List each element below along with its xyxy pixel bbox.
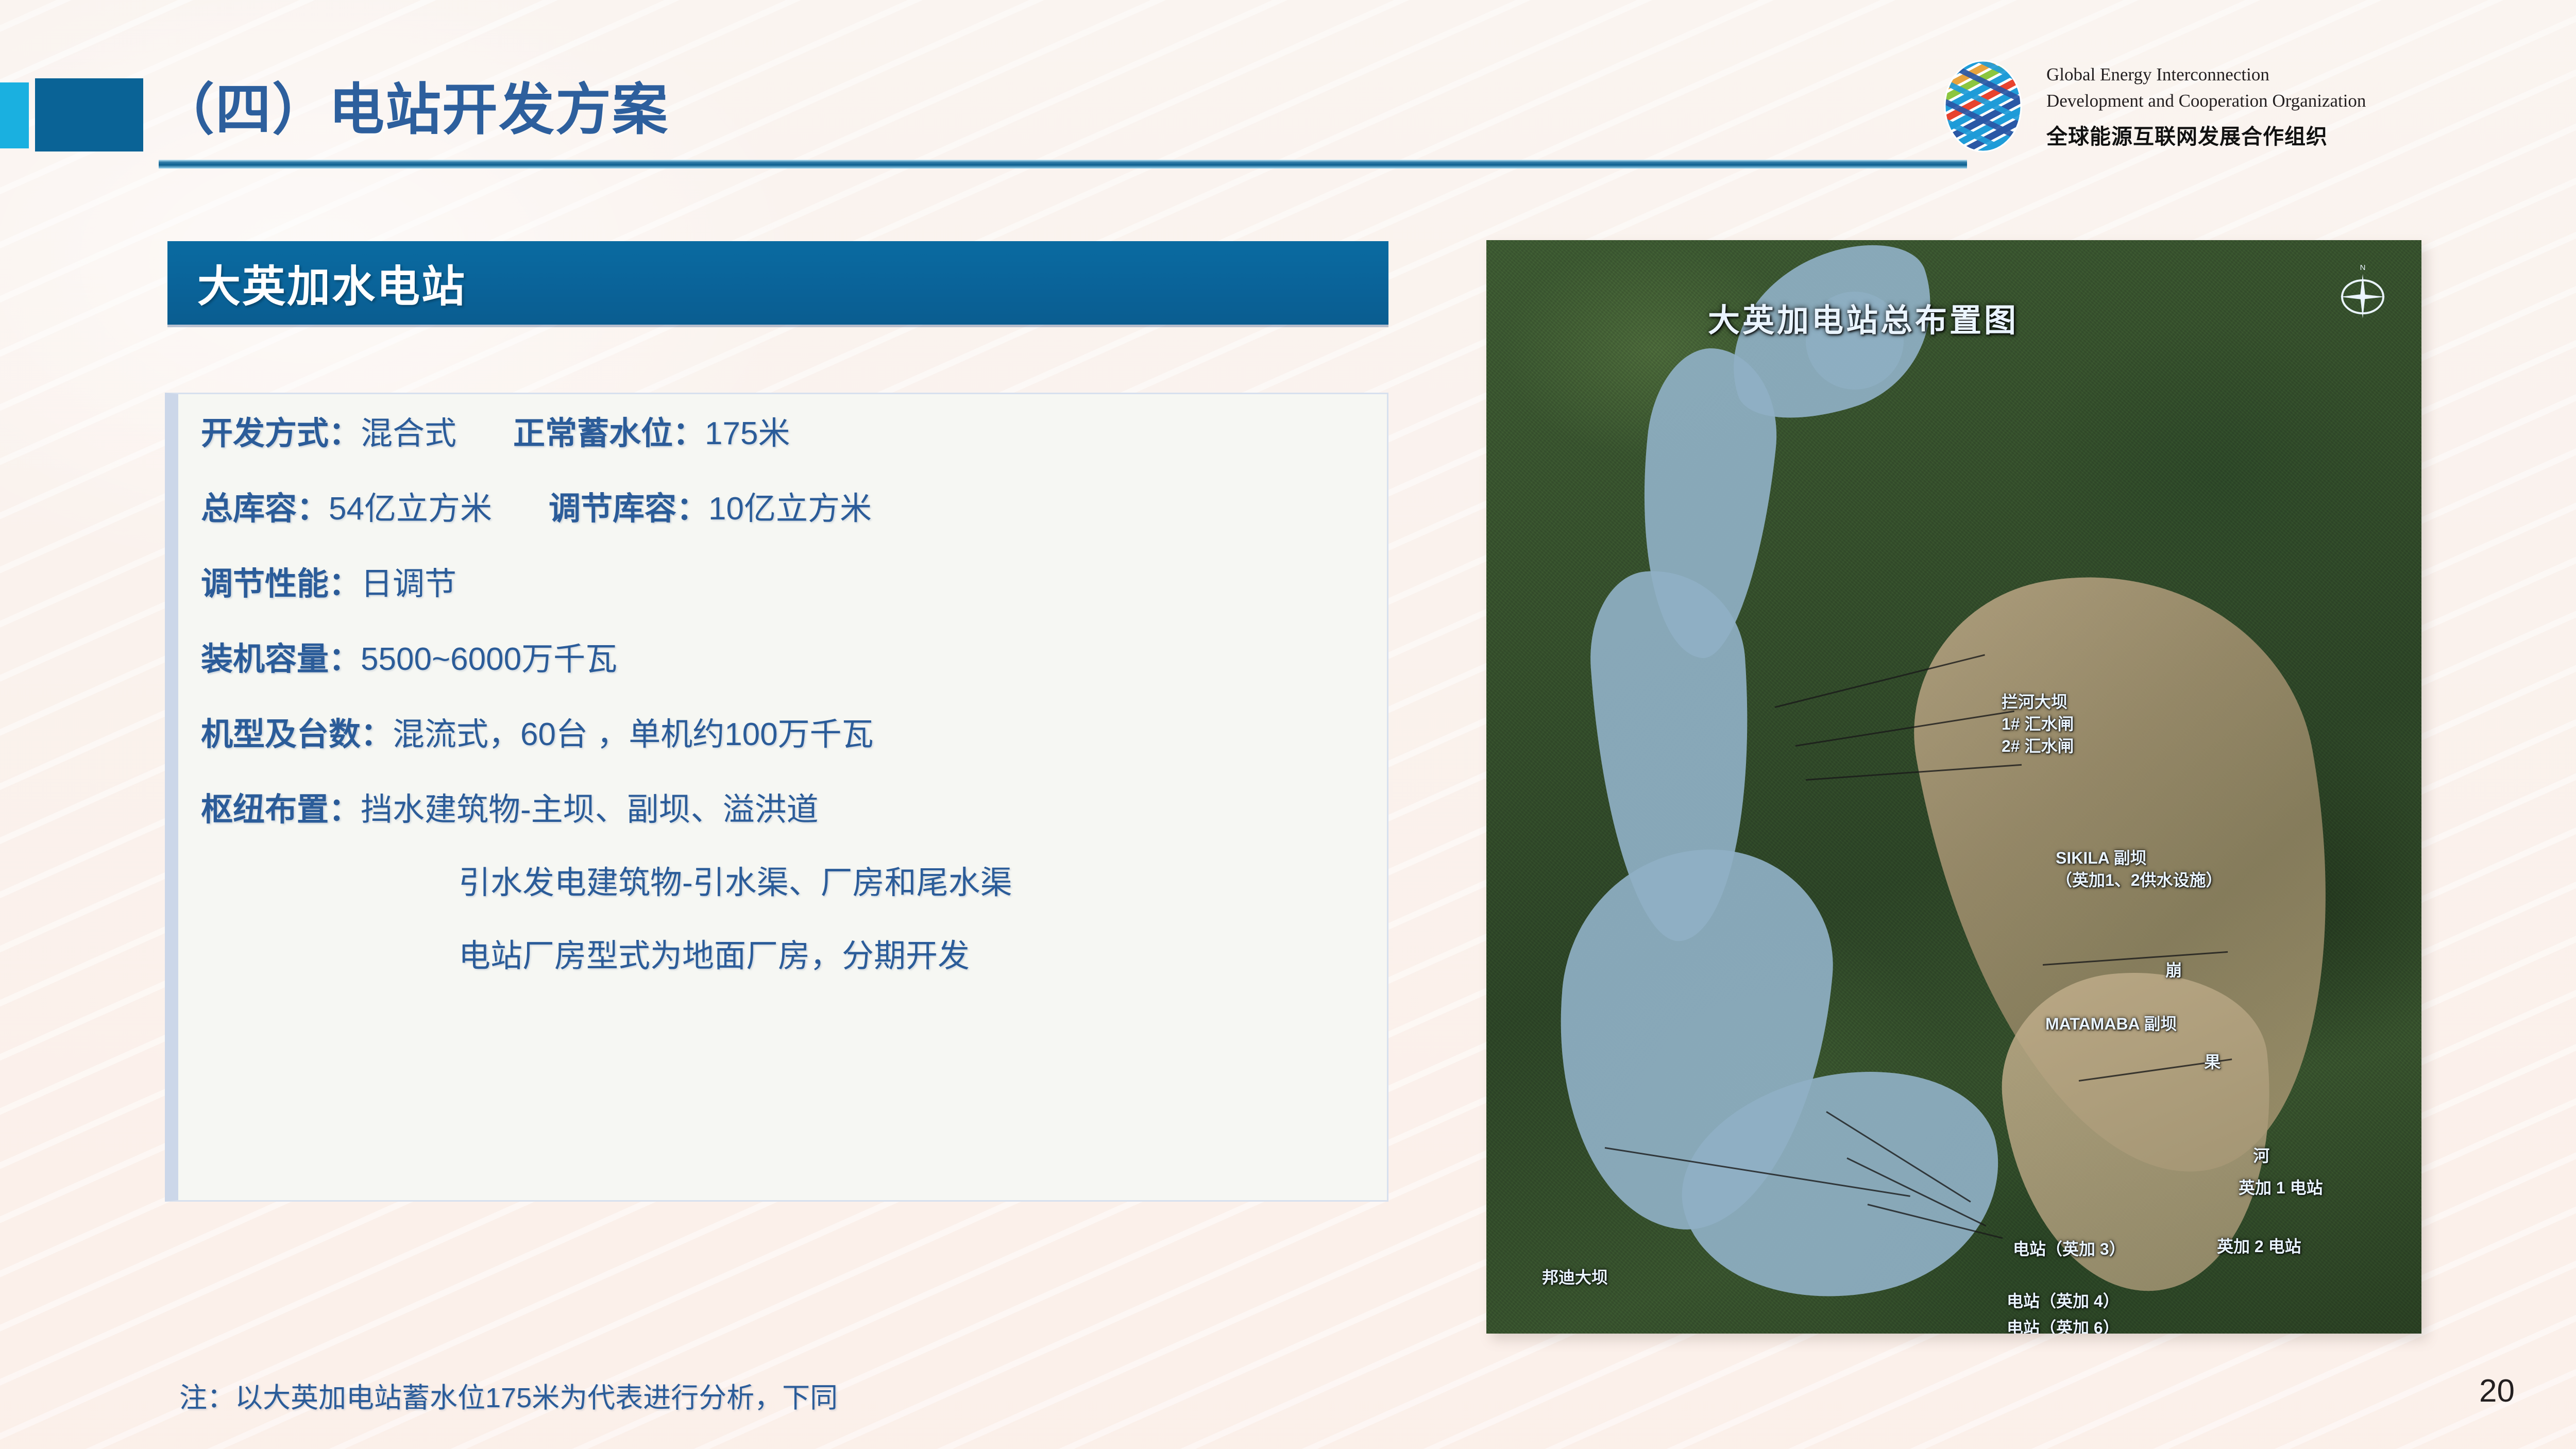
spec-list: 开发方式： 混合式 正常蓄水位： 175米 总库容： 54亿立方米 调节库容： …	[201, 407, 1381, 1190]
spec-label: 机型及台数：	[201, 708, 393, 754]
logo-line-2: Development and Cooperation Organization	[2046, 89, 2366, 113]
logo-text-block: Global Energy Interconnection Developmen…	[2046, 63, 2366, 150]
spec-row: 总库容： 54亿立方米 调节库容： 10亿立方米	[201, 482, 1381, 529]
spec-continuation: 电站厂房型式为地面厂房，分期开发	[459, 930, 970, 976]
map-canvas	[1486, 240, 2421, 1334]
spec-label: 开发方式：	[201, 407, 361, 453]
spec-row: 开发方式： 混合式 正常蓄水位： 175米	[201, 407, 1381, 453]
spec-label-secondary: 调节库容：	[549, 482, 708, 529]
page-title: （四）电站开发方案	[159, 65, 669, 145]
spec-value: 挡水建筑物-主坝、副坝、溢洪道	[361, 783, 819, 830]
river-char-3: 河	[2249, 1147, 2271, 1177]
dam-labels: 拦河大坝1# 汇水闸2# 汇水闸	[2002, 691, 2074, 758]
spec-continuation-row: 电站厂房型式为地面厂房，分期开发	[201, 930, 1381, 976]
map-title: 大英加电站总布置图	[1708, 294, 2019, 341]
river-char-1: 崩	[2161, 962, 2183, 991]
spec-label: 枢纽布置：	[201, 783, 361, 830]
organization-logo: Global Energy Interconnection Developmen…	[1937, 49, 2545, 163]
spec-continuation: 引水发电建筑物-引水渠、厂房和尾水渠	[459, 856, 1012, 903]
spec-value: 日调节	[361, 558, 456, 604]
inga3-label: 电站（英加 3）	[2013, 1238, 2126, 1260]
globe-icon	[1937, 58, 2029, 154]
section-banner: 大英加水电站	[167, 241, 1388, 325]
header-accent-bar-blue	[35, 78, 143, 151]
header-divider-rule	[159, 160, 1967, 169]
footnote: 注：以大英加电站蓄水位175米为代表进行分析，下同	[179, 1375, 838, 1416]
logo-line-3: 全球能源互联网发展合作组织	[2046, 119, 2366, 150]
spec-value: 54亿立方米	[329, 482, 492, 529]
river-char-2: 果	[2200, 1053, 2222, 1083]
spec-label: 总库容：	[201, 482, 329, 529]
bangdi-dam-label: 邦迪大坝	[1542, 1267, 1608, 1289]
section-banner-title: 大英加水电站	[197, 252, 466, 314]
page-number: 20	[2479, 1373, 2515, 1409]
header-accent-bar-cyan	[0, 82, 29, 148]
spec-label: 调节性能：	[201, 558, 361, 604]
spec-value: 混合式	[361, 407, 456, 453]
compass-rose-icon: N	[2336, 262, 2389, 323]
sikila-dam-label: SIKILA 副坝（英加1、2供水设施）	[2056, 847, 2223, 891]
spec-row: 装机容量： 5500~6000万千瓦	[201, 633, 1381, 679]
spec-row: 调节性能： 日调节	[201, 558, 1381, 604]
svg-text:N: N	[2360, 263, 2366, 272]
inga4-label: 电站（英加 4）	[2007, 1290, 2120, 1312]
satellite-layout-map: 大英加电站总布置图 N 拦河大坝1# 汇水闸2# 汇水闸 SIKILA 副坝（英…	[1486, 240, 2421, 1334]
spec-value-secondary: 175米	[705, 407, 790, 453]
matamaba-dam-label: MATAMABA 副坝	[2045, 1013, 2177, 1035]
spec-value: 5500~6000万千瓦	[361, 633, 617, 679]
spec-row: 枢纽布置： 挡水建筑物-主坝、副坝、溢洪道	[201, 783, 1381, 830]
inga6-label: 电站（英加 6）	[2007, 1317, 2120, 1334]
spec-value-secondary: 10亿立方米	[708, 482, 872, 529]
spec-label-secondary: 正常蓄水位：	[513, 407, 705, 453]
inga1-label: 英加 1 电站	[2239, 1177, 2323, 1199]
spec-label: 装机容量：	[201, 633, 361, 679]
spec-value: 混流式，60台 ，单机约100万千瓦	[393, 708, 874, 754]
inga2-label: 英加 2 电站	[2217, 1236, 2301, 1258]
spec-row: 机型及台数： 混流式，60台 ，单机约100万千瓦	[201, 708, 1381, 754]
logo-line-1: Global Energy Interconnection	[2046, 63, 2366, 87]
spec-continuation-row: 引水发电建筑物-引水渠、厂房和尾水渠	[201, 856, 1381, 903]
